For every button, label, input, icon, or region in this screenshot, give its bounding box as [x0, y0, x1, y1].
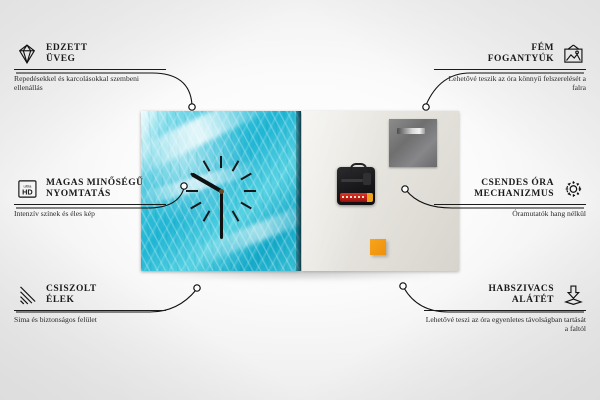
ultra-hd-icon: ultra HD	[14, 177, 40, 201]
callout-high-quality-print[interactable]: ultra HD MAGAS MINŐSÉGŰ NYOMTATÁS Intenz…	[14, 177, 166, 218]
callout-description: Sima és biztonságos felület	[14, 315, 166, 325]
callout-title: CSISZOLT ÉLEK	[46, 284, 97, 307]
callout-description: Intenzív színek és éles kép	[14, 209, 166, 219]
callout-header: FÉM FOGANTYÚK	[434, 42, 586, 66]
callout-header: HABSZIVACS ALÁTÉT	[424, 283, 586, 307]
callout-title: CSENDES ÓRA MECHANIZMUS	[474, 178, 554, 201]
callout-title: MAGAS MINŐSÉGŰ NYOMTATÁS	[46, 178, 144, 201]
gear-icon	[560, 177, 586, 201]
diagonal-lines-icon	[14, 283, 40, 307]
minute-hand	[220, 191, 223, 239]
callout-silent-mechanism[interactable]: CSENDES ÓRA MECHANIZMUS Óramutatók hang …	[434, 177, 586, 218]
mechanism-groove	[341, 179, 363, 182]
clock-mechanism	[337, 167, 375, 205]
callout-divider	[14, 69, 166, 70]
callout-header: EDZETT ÜVEG	[14, 42, 166, 66]
press-down-pad-icon	[560, 283, 586, 307]
battery-label	[342, 196, 364, 198]
callout-header: CSISZOLT ÉLEK	[14, 283, 166, 307]
hanger-slot	[397, 128, 425, 134]
diamond-icon	[14, 42, 40, 66]
callout-polished-edges[interactable]: CSISZOLT ÉLEK Sima és biztonságos felüle…	[14, 283, 166, 324]
mechanism-groove	[363, 173, 371, 185]
callout-description: Repedésekkel és karcolásokkal szembeni e…	[14, 74, 166, 93]
glass-edge	[296, 111, 301, 271]
battery	[340, 193, 372, 202]
callout-header: ultra HD MAGAS MINŐSÉGŰ NYOMTATÁS	[14, 177, 166, 201]
callout-divider	[434, 69, 586, 70]
leader-dot	[423, 104, 429, 110]
callout-divider	[14, 204, 166, 205]
leader-dot	[400, 283, 406, 289]
callout-description: Óramutatók hang nélkül	[434, 209, 586, 219]
svg-text:HD: HD	[22, 188, 33, 197]
metal-hanger-plate	[389, 119, 437, 167]
mechanism-loop	[350, 163, 367, 173]
callout-foam-underlay[interactable]: HABSZIVACS ALÁTÉT Lehetővé teszi az óra …	[424, 283, 586, 334]
callout-description: Lehetővé teszik az óra könnyű felszerelé…	[434, 74, 586, 93]
foam-pad	[370, 239, 386, 255]
leader-dot	[189, 104, 195, 110]
product-image	[141, 111, 459, 271]
infographic-canvas: EDZETT ÜVEG Repedésekkel és karcolásokka…	[0, 0, 600, 400]
callout-title: HABSZIVACS ALÁTÉT	[488, 284, 554, 307]
callout-description: Lehetővé teszi az óra egyenletes távolsá…	[424, 315, 586, 334]
callout-divider	[434, 204, 586, 205]
callout-tempered-glass[interactable]: EDZETT ÜVEG Repedésekkel és karcolásokka…	[14, 42, 166, 93]
callout-header: CSENDES ÓRA MECHANIZMUS	[434, 177, 586, 201]
callout-title: FÉM FOGANTYÚK	[488, 43, 554, 66]
picture-frame-icon	[560, 42, 586, 66]
callout-metal-handles[interactable]: FÉM FOGANTYÚK Lehetővé teszik az óra kön…	[434, 42, 586, 93]
battery-cap	[367, 193, 373, 202]
callout-divider	[14, 310, 166, 311]
clock-center-pin	[219, 189, 224, 194]
leader-dot	[194, 285, 200, 291]
callout-divider	[424, 310, 586, 311]
callout-title: EDZETT ÜVEG	[46, 43, 88, 66]
